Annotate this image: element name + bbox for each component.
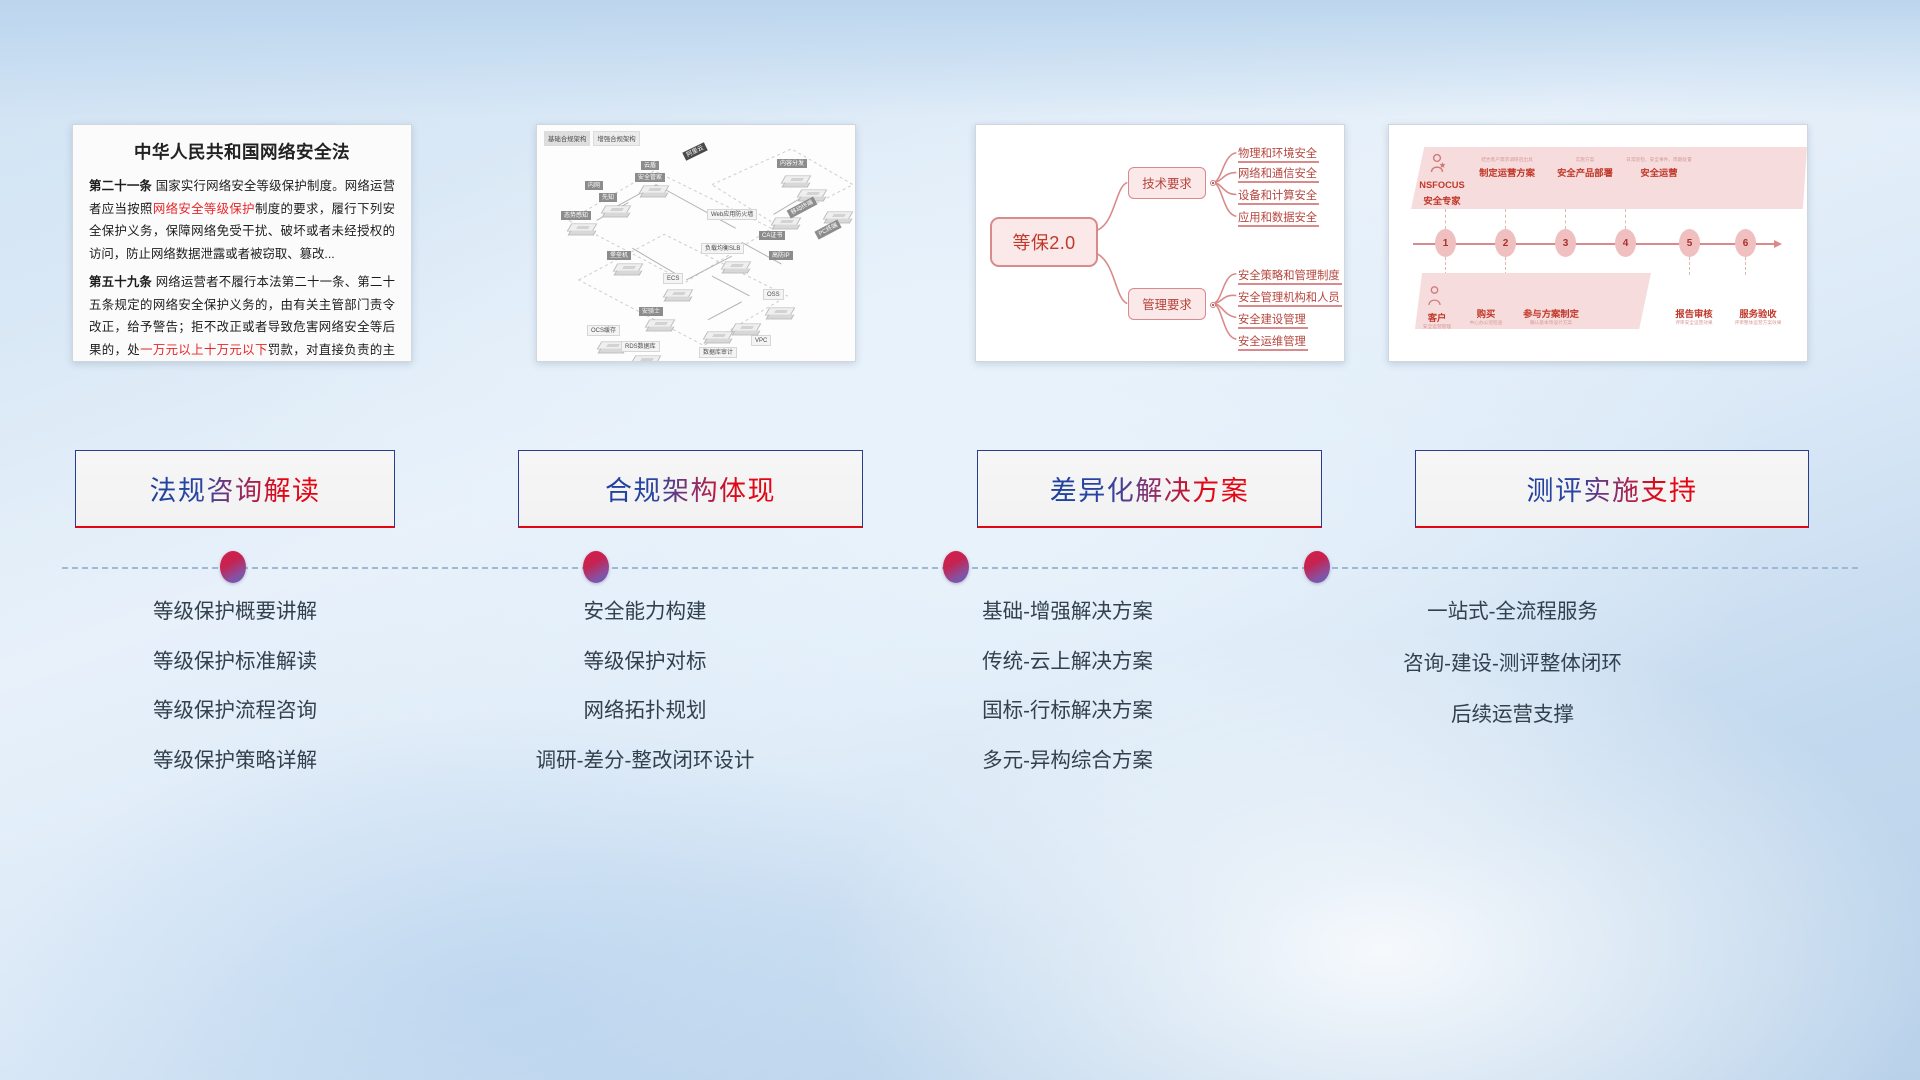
heading-label-1: 法规咨询解读 (150, 469, 321, 508)
tag-anti-ddos-ip: 高防IP (769, 251, 793, 260)
isometric-canvas: 阿里云 态势感知 先知 安全管家 堡垒机 ECS 安骑士 OCS缓存 RDS数据… (537, 125, 855, 361)
heading-box-assessment-support[interactable]: 测评实施支持 (1415, 450, 1809, 528)
node-database-audit (705, 329, 731, 347)
node-load-balancer (723, 259, 749, 277)
heading-box-regulation-consulting[interactable]: 法规咨询解读 (75, 450, 395, 528)
detail-column-1: 等级保护概要讲解 等级保护标准解读 等级保护流程咨询 等级保护策略详解 (45, 602, 425, 800)
card-nsfocus-timeline[interactable]: NSFOCUS 安全专家 结合客户需求调研后出具 制定运营方案 实施方案 安全产… (1388, 124, 1808, 362)
mindmap-collapse-dot-management[interactable] (1210, 302, 1216, 308)
node-oss (767, 305, 793, 323)
dash-6 (1505, 257, 1506, 275)
list-item: 等级保护对标 (455, 652, 835, 673)
dash-3 (1565, 209, 1566, 229)
list-item: 等级保护策略详解 (45, 751, 425, 772)
timeline-dot-4[interactable] (1304, 551, 1330, 583)
dash-8 (1745, 257, 1746, 275)
bottom-step-2: 参与方案制定 确认基本项设计方案 (1513, 303, 1589, 325)
heading-box-differentiated-solution[interactable]: 差异化解决方案 (977, 450, 1322, 528)
top-step-1: 结合客户需求调研后出具 制定运营方案 (1471, 157, 1543, 179)
list-item: 后续运营支撑 (1305, 705, 1720, 726)
article-59-highlight-1: 一万元以上十万元以下 (140, 343, 268, 357)
heading-label-4: 测评实施支持 (1527, 469, 1698, 508)
client-block: 客户 安全运营管理 (1417, 307, 1457, 329)
axis-step-3[interactable]: 3 (1555, 229, 1576, 257)
law-title: 中华人民共和国网络安全法 (89, 139, 395, 164)
list-item: 等级保护流程咨询 (45, 701, 425, 722)
list-item: 一站式-全流程服务 (1305, 602, 1720, 623)
list-item: 网络拓扑规划 (455, 701, 835, 722)
top-step-3-label: 安全运营 (1621, 165, 1697, 179)
top-step-1-sub: 结合客户需求调研后出具 (1471, 157, 1543, 162)
bottom-step-1-sub: 中心办公巡检查 (1463, 320, 1509, 325)
list-item: 基础-增强解决方案 (870, 602, 1265, 623)
mindmap-leaf-policy-system: 安全策略和管理制度 (1238, 267, 1340, 285)
mindmap-branch-technical[interactable]: 技术要求 (1128, 167, 1206, 199)
tag-situation-awareness: 态势感知 (561, 211, 591, 220)
top-step-1-label: 制定运营方案 (1471, 165, 1543, 179)
list-item: 多元-异构综合方案 (870, 751, 1265, 772)
article-21-label: 第二十一条 (89, 179, 152, 193)
top-step-2-sub: 实施方案 (1549, 157, 1621, 162)
list-item: 等级保护标准解读 (45, 652, 425, 673)
tag-rds-database: RDS数据库 (621, 341, 660, 352)
card-mindmap-dengbao[interactable]: 等保2.0 技术要求 物理和环境安全 网络和通信安全 设备和计算安全 应用和数据… (975, 124, 1345, 362)
tag-cloud-shield: 云盾 (641, 161, 659, 170)
node-rds-database (633, 353, 659, 362)
bottom-step-4-sub: 评审整体运营方案效果 (1729, 320, 1787, 325)
node-situation-awareness (569, 221, 595, 239)
mindmap-leaf-network-security: 网络和通信安全 (1238, 165, 1317, 183)
tag-intranet: 内网 (585, 181, 603, 190)
tag-database-audit: 数据库审计 (699, 347, 737, 358)
node-bastion-host (615, 261, 641, 279)
detail-column-2: 安全能力构建 等级保护对标 网络拓扑规划 调研-差分-整改闭环设计 (455, 602, 835, 800)
node-ecs (665, 287, 691, 305)
client-title: 客户 (1417, 310, 1457, 324)
list-item: 安全能力构建 (455, 602, 835, 623)
tag-xianzhi: 先知 (599, 193, 617, 202)
law-article-59: 第五十九条 网络运营者不履行本法第二十一条、第二十五条规定的网络安全保护义务的，… (89, 271, 395, 362)
bottom-step-4-label: 服务验收 (1729, 306, 1787, 320)
mindmap-branch-management[interactable]: 管理要求 (1128, 288, 1206, 320)
timeline-dot-2[interactable] (583, 551, 609, 583)
top-step-3: 日常巡检、安全事件、周期处置 安全运营 (1621, 157, 1697, 179)
bottom-step-1: 购买 中心办公巡检查 (1463, 303, 1509, 325)
card-cloud-architecture[interactable]: 基础合规架构 增强合规架构 (536, 124, 856, 362)
mindmap-leaf-application-security: 应用和数据安全 (1238, 209, 1317, 227)
expert-person-icon (1429, 153, 1447, 179)
client-sub: 安全运营管理 (1417, 324, 1457, 329)
expert-brand-sub: 安全专家 (1415, 193, 1469, 207)
tag-cdn: 内容分发 (777, 159, 807, 168)
architecture-diagram: 基础合规架构 增强合规架构 (537, 125, 855, 361)
bottom-step-3: 报告审核 评审安全运营效果 (1667, 303, 1721, 325)
expert-brand-block: NSFOCUS 安全专家 (1415, 177, 1469, 207)
dash-7 (1689, 257, 1690, 275)
reference-cards-row: 中华人民共和国网络安全法 第二十一条 国家实行网络安全等级保护制度。网络运营者应… (0, 124, 1920, 364)
bottom-step-2-label: 参与方案制定 (1513, 306, 1589, 320)
bottom-step-3-label: 报告审核 (1667, 306, 1721, 320)
card-cybersecurity-law[interactable]: 中华人民共和国网络安全法 第二十一条 国家实行网络安全等级保护制度。网络运营者应… (72, 124, 412, 362)
law-document: 中华人民共和国网络安全法 第二十一条 国家实行网络安全等级保护制度。网络运营者应… (73, 125, 411, 362)
detail-column-4: 一站式-全流程服务 咨询-建设-测评整体闭环 后续运营支撑 (1305, 602, 1720, 757)
node-security-butler (641, 183, 667, 201)
dash-5 (1445, 257, 1446, 275)
tag-load-balancer: 负载均衡SLB (701, 243, 744, 254)
mindmap-leaf-device-security: 设备和计算安全 (1238, 187, 1317, 205)
timeline-axis (1413, 243, 1775, 245)
top-step-3-sub: 日常巡检、安全事件、周期处置 (1621, 157, 1697, 162)
mindmap-leaf-operation-mgmt: 安全运维管理 (1238, 333, 1306, 351)
heading-box-compliance-architecture[interactable]: 合规架构体现 (518, 450, 863, 528)
list-item: 调研-差分-整改闭环设计 (455, 751, 835, 772)
detail-column-3: 基础-增强解决方案 传统-云上解决方案 国标-行标解决方案 多元-异构综合方案 (870, 602, 1265, 800)
person-star-icon (1429, 153, 1447, 175)
mindmap-collapse-dot-technical[interactable] (1210, 180, 1216, 186)
axis-step-4[interactable]: 4 (1615, 229, 1636, 257)
list-item: 等级保护概要讲解 (45, 602, 425, 623)
list-item: 传统-云上解决方案 (870, 652, 1265, 673)
bottom-step-2-sub: 确认基本项设计方案 (1513, 320, 1589, 325)
node-vpc (733, 321, 759, 339)
node-xianzhi (603, 203, 629, 221)
node-ca-certificate (773, 215, 799, 233)
top-step-2: 实施方案 安全产品部署 (1549, 157, 1621, 179)
dash-1 (1445, 209, 1446, 229)
axis-step-1[interactable]: 1 (1435, 229, 1456, 257)
tag-ecs: ECS (663, 273, 683, 284)
article-21-highlight: 网络安全等级保护 (153, 202, 255, 216)
axis-step-2[interactable]: 2 (1495, 229, 1516, 257)
top-step-2-label: 安全产品部署 (1549, 165, 1621, 179)
architecture-wires (537, 125, 855, 362)
law-article-21: 第二十一条 国家实行网络安全等级保护制度。网络运营者应当按照网络安全等级保护制度… (89, 175, 395, 265)
axis-step-5[interactable]: 5 (1679, 229, 1700, 257)
tag-oss: OSS (763, 289, 784, 300)
axis-step-6[interactable]: 6 (1735, 229, 1756, 257)
mindmap-leaf-physical-security: 物理和环境安全 (1238, 145, 1317, 163)
tag-ocs-cache: OCS缓存 (587, 325, 620, 336)
tag-bastion-host: 堡垒机 (607, 251, 631, 260)
node-anqishi (647, 317, 673, 335)
list-item: 国标-行标解决方案 (870, 701, 1265, 722)
timeline-dot-3[interactable] (943, 551, 969, 583)
client-band-right (1689, 147, 1807, 209)
expert-brand: NSFOCUS (1415, 180, 1469, 190)
heading-boxes-row: 法规咨询解读 合规架构体现 差异化解决方案 测评实施支持 (0, 450, 1920, 530)
heading-label-2: 合规架构体现 (605, 469, 776, 508)
article-59-label: 第五十九条 (89, 275, 152, 289)
mindmap-root: 等保2.0 (990, 217, 1098, 267)
nsfocus-timeline: NSFOCUS 安全专家 结合客户需求调研后出具 制定运营方案 实施方案 安全产… (1389, 125, 1807, 361)
bottom-step-4: 服务验收 评审整体运营方案效果 (1729, 303, 1787, 325)
dash-4 (1625, 209, 1626, 229)
list-item: 咨询-建设-测评整体闭环 (1305, 654, 1720, 675)
person-check-icon (1427, 285, 1443, 307)
heading-label-3: 差异化解决方案 (1050, 469, 1250, 508)
process-timeline (62, 566, 1858, 570)
tag-security-butler: 安全管家 (635, 173, 665, 182)
bottom-step-3-sub: 评审安全运营效果 (1667, 320, 1721, 325)
mindmap: 等保2.0 技术要求 物理和环境安全 网络和通信安全 设备和计算安全 应用和数据… (976, 125, 1344, 361)
bottom-step-1-label: 购买 (1463, 306, 1509, 320)
mindmap-leaf-org-personnel: 安全管理机构和人员 (1238, 289, 1340, 307)
mindmap-leaf-construction-mgmt: 安全建设管理 (1238, 311, 1306, 329)
dash-2 (1505, 209, 1506, 229)
timeline-dot-1[interactable] (220, 551, 246, 583)
tag-anqishi: 安骑士 (639, 307, 663, 316)
tag-waf: Web应用防火墙 (707, 209, 757, 220)
